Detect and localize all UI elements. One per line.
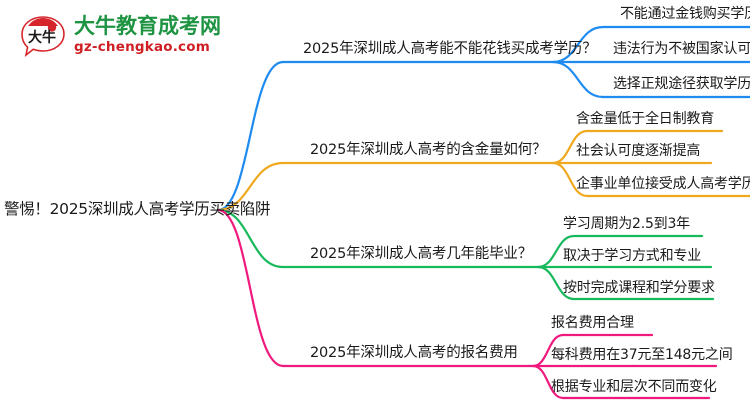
mindmap-branch-2-leaf-3[interactable]: 企事业单位接受成人高考学历 [576, 175, 750, 193]
mindmap-branch-2-leaf-2[interactable]: 社会认可度逐渐提高 [576, 142, 700, 160]
mindmap-branch-1-leaf-2[interactable]: 违法行为不被国家认可 [613, 40, 750, 58]
mindmap-branch-4-leaf-2[interactable]: 每科费用在37元至148元之间 [551, 346, 733, 364]
logo-text-block: 大牛教育成考网 gz-chengkao.com [74, 14, 221, 56]
mindmap-branch-3-leaf-2[interactable]: 取决于学习方式和专业 [563, 247, 701, 265]
mindmap-branch-1-leaf-1[interactable]: 不能通过金钱购买学历 [620, 5, 750, 23]
mindmap-branch-4-leaf-1[interactable]: 报名费用合理 [551, 314, 634, 332]
mindmap-branch-4-label[interactable]: 2025年深圳成人高考的报名费用 [310, 344, 518, 363]
mindmap-branch-3-leaf-1[interactable]: 学习周期为2.5到3年 [563, 215, 690, 233]
mindmap-branch-1-label[interactable]: 2025年深圳成人高考能不能花钱买成考学历？ [303, 40, 597, 59]
branch-1-to-leaf-3-curve [553, 62, 603, 97]
branch-4-connectors [218, 210, 716, 398]
logo-title: 大牛教育成考网 [74, 14, 221, 39]
logo-mark-text: 大牛 [28, 29, 56, 46]
mindmap-branch-2-label[interactable]: 2025年深圳成人高考的含金量如何？ [310, 141, 546, 160]
mindmap-root-title[interactable]: 警惕！2025深圳成人高考学历买卖陷阱 [4, 199, 270, 219]
logo-domain: gz-chengkao.com [74, 39, 221, 56]
root-to-branch-4-curve [218, 210, 283, 366]
mindmap-branch-2-leaf-1[interactable]: 含金量低于全日制教育 [576, 110, 714, 128]
mindmap-branch-1-leaf-3[interactable]: 选择正规途径获取学历 [613, 75, 750, 93]
mindmap-branch-3-label[interactable]: 2025年深圳成人高考几年能毕业？ [310, 245, 532, 264]
daniu-logo-icon: 大牛 [18, 14, 68, 60]
mindmap-canvas: 大牛 大牛教育成考网 gz-chengkao.com 警惕！2025深圳成人高考… [0, 0, 750, 410]
mindmap-branch-4-leaf-3[interactable]: 根据专业和层次不同而变化 [551, 378, 717, 396]
site-logo[interactable]: 大牛 大牛教育成考网 gz-chengkao.com [18, 12, 233, 64]
mindmap-branch-3-leaf-3[interactable]: 按时完成课程和学分要求 [563, 279, 715, 297]
